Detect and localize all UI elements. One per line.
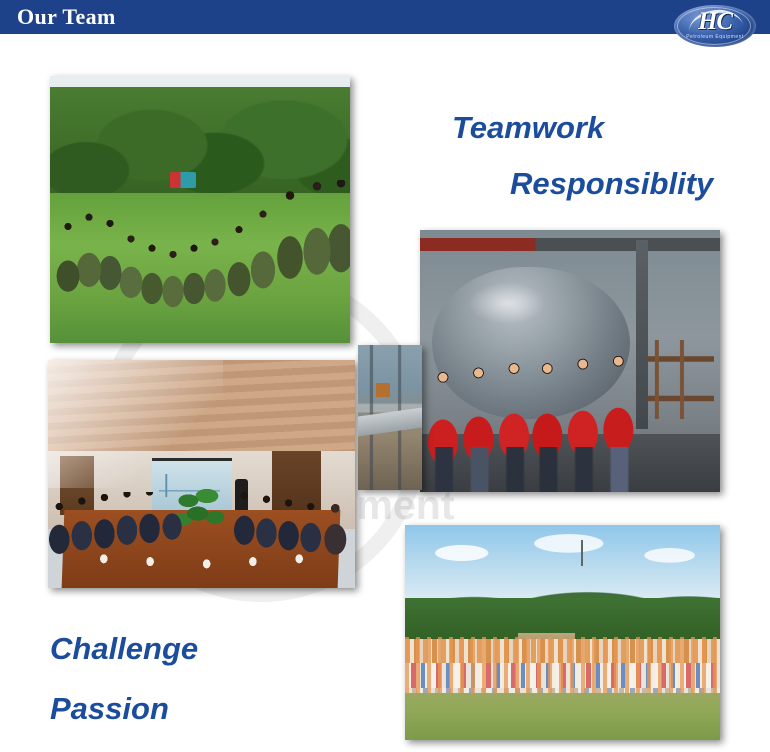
grass-field bbox=[405, 693, 720, 740]
roof-beam bbox=[420, 238, 720, 251]
photo-pressure-tank-team bbox=[420, 230, 720, 492]
photo-factory-line bbox=[358, 345, 422, 490]
slogan-challenge: Challenge bbox=[50, 631, 198, 667]
photo-boardroom-meeting bbox=[48, 360, 355, 588]
crate-prop bbox=[376, 383, 390, 398]
photo-military-training bbox=[50, 76, 350, 343]
our-team-page: Our Team HC Petroleum Equipment quipment bbox=[0, 0, 770, 752]
crowd-heads-layer bbox=[50, 180, 350, 335]
vessel-highlight bbox=[468, 282, 546, 324]
logo-subtitle: Petroleum Equipment bbox=[668, 34, 762, 40]
slogan-teamwork: Teamwork bbox=[452, 110, 604, 146]
photo-group-outing bbox=[405, 525, 720, 740]
page-title: Our Team bbox=[17, 2, 116, 32]
hc-logo: HC Petroleum Equipment bbox=[668, 3, 762, 49]
scaffolding bbox=[648, 340, 714, 419]
window-light-wash bbox=[48, 360, 223, 488]
attendees-right bbox=[232, 492, 355, 583]
logo-monogram: HC bbox=[668, 9, 762, 35]
attendees-left bbox=[48, 492, 189, 583]
slogan-passion: Passion bbox=[50, 691, 169, 727]
worker-heads bbox=[423, 345, 645, 492]
slogan-responsiblity: Responsiblity bbox=[510, 166, 713, 202]
power-pylon bbox=[581, 540, 583, 566]
